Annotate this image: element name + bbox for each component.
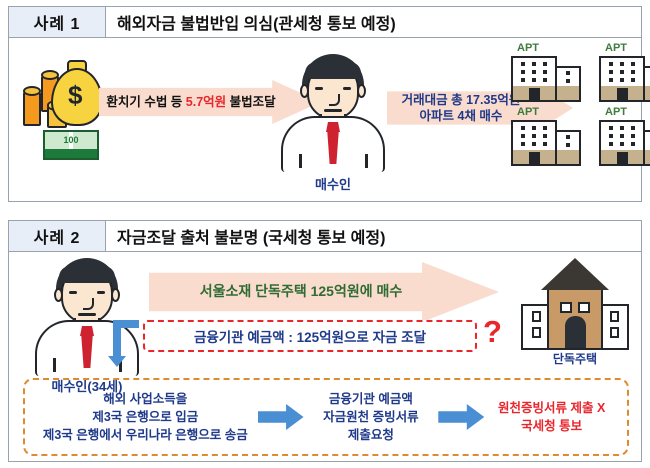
flow-step-3-line-2: 국세청 통보 <box>521 417 582 435</box>
case-2-funding-callout: 금융기관 예금액 : 125억원으로 자금 조달 <box>143 320 477 352</box>
flow-step-3: 원천증빙서류 제출 X 국세청 통보 <box>484 399 619 435</box>
flow-step-1-line-3: 제3국 은행에서 우리나라 은행으로 송금 <box>43 426 248 444</box>
buyer-person-icon: 매수인 <box>277 54 389 174</box>
flow-step-2-line-3: 제출요청 <box>348 426 394 444</box>
case-2-body: 매수인(34세) 서울소재 단독주택 125억원에 매수 금융기관 예금액 : … <box>8 252 642 462</box>
flow-step-2-line-1: 금융기관 예금액 <box>329 390 413 408</box>
detached-house-icon: 단독주택 <box>521 258 629 350</box>
flow-step-2-line-2: 자금원천 증빙서류 <box>323 408 418 426</box>
apt-label: APT <box>517 106 539 118</box>
case-2-arrow-purchase-text: 서울소재 단독주택 125억원에 매수 <box>200 283 448 301</box>
house-label: 단독주택 <box>553 350 597 367</box>
case-2-arrow-purchase: 서울소재 단독주택 125억원에 매수 <box>149 262 499 322</box>
apartment-icon: APT <box>509 44 583 104</box>
case-2-title: 자금조달 출처 불분명 (국세청 통보 예정) <box>106 221 641 251</box>
apartment-icon: APT <box>597 108 650 168</box>
case-1-body: $ 100 환치기 수법 등 5.7억원 불법조달 <box>8 38 642 202</box>
apt-label: APT <box>605 106 627 118</box>
case-2-flow-box: 해외 사업소득을 제3국 은행으로 입금 제3국 은행에서 우리나라 은행으로 … <box>23 378 629 456</box>
apartment-icon: APT <box>509 108 583 168</box>
flow-arrow-1-icon <box>258 404 304 430</box>
banknote-stack-icon: 100 <box>43 130 99 160</box>
case-1-title: 해외자금 불법반입 의심(관세청 통보 예정) <box>106 7 641 37</box>
flow-step-1-line-2: 제3국 은행으로 입금 <box>92 408 198 426</box>
case-1-tag: 사례 1 <box>9 7 106 37</box>
apartment-group: APT APT APT APT <box>509 44 650 168</box>
case-1-person-label: 매수인 <box>315 174 351 193</box>
case-2-panel: 사례 2 자금조달 출처 불분명 (국세청 통보 예정) 매수인(34세) <box>8 220 642 462</box>
flow-step-3-line-1: 원천증빙서류 제출 X <box>498 399 605 417</box>
infographic-page: 사례 1 해외자금 불법반입 의심(관세청 통보 예정) $ 100 <box>0 0 650 468</box>
apt-label: APT <box>517 42 539 54</box>
flow-step-1: 해외 사업소득을 제3국 은행으로 입금 제3국 은행에서 우리나라 은행으로 … <box>33 390 258 444</box>
banknote-value-label: 100 <box>45 135 97 145</box>
apt-label: APT <box>605 42 627 54</box>
dollar-sign-icon: $ <box>68 82 82 108</box>
money-bag-icon: $ 100 <box>21 58 105 164</box>
flow-step-1-line-1: 해외 사업소득을 <box>103 390 187 408</box>
flow-arrow-2-icon <box>438 404 484 430</box>
flow-step-2: 금융기관 예금액 자금원천 증빙서류 제출요청 <box>304 390 439 444</box>
case-2-header: 사례 2 자금조달 출처 불분명 (국세청 통보 예정) <box>8 220 642 252</box>
buyer-person-icon: 매수인(34세) <box>31 258 143 378</box>
case-1-panel: 사례 1 해외자금 불법반입 의심(관세청 통보 예정) $ 100 <box>8 6 642 202</box>
apartment-icon: APT <box>597 44 650 104</box>
question-mark-icon: ? <box>483 316 502 347</box>
case-2-tag: 사례 2 <box>9 221 106 251</box>
case-1-header: 사례 1 해외자금 불법반입 의심(관세청 통보 예정) <box>8 6 642 38</box>
